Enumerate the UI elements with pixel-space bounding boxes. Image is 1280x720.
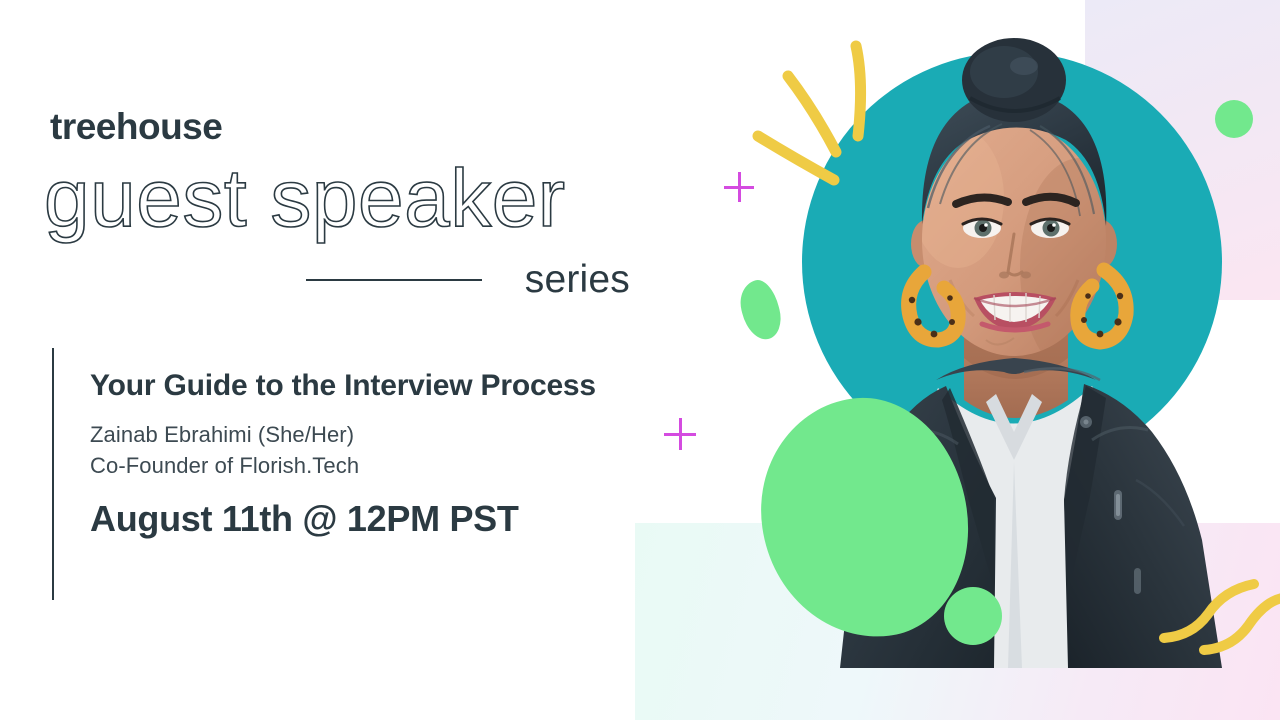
detail-accent-rule — [52, 348, 54, 600]
green-circle-icon — [944, 587, 1002, 645]
series-label: series — [525, 254, 630, 306]
text-column: treehouse guest speaker series Your Guid… — [0, 0, 680, 720]
event-datetime: August 11th @ 12PM PST — [90, 499, 650, 539]
series-row: series — [300, 254, 630, 306]
sparkle-strokes-icon — [748, 24, 888, 204]
wavy-lines-icon — [1158, 578, 1280, 698]
headline-guest-speaker: guest speaker — [44, 158, 566, 240]
green-bean-icon — [735, 276, 785, 343]
event-details: Your Guide to the Interview Process Zain… — [90, 366, 650, 539]
talk-title: Your Guide to the Interview Process — [90, 366, 650, 405]
series-divider-rule — [306, 279, 482, 281]
speaker-role: Co-Founder of Florish.Tech — [90, 450, 650, 481]
brand-wordmark: treehouse — [50, 108, 222, 145]
promo-slide: treehouse guest speaker series Your Guid… — [0, 0, 1280, 720]
speaker-name: Zainab Ebrahimi (She/Her) — [90, 419, 650, 450]
